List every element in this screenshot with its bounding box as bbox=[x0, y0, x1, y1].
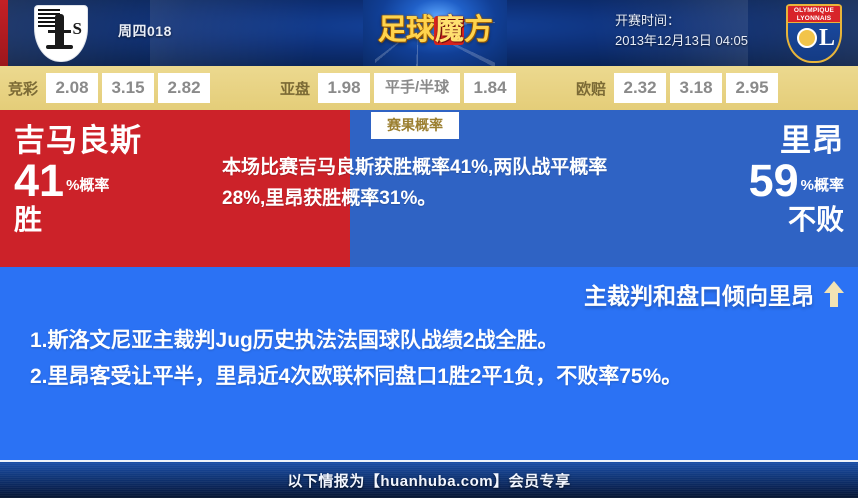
insight-headline-row: 主裁判和盘口倾向里昂 bbox=[584, 277, 844, 311]
home-probability-suffix: %概率 bbox=[66, 174, 109, 195]
crest-banner-line2: LYONNAIS bbox=[788, 15, 840, 23]
probability-section: 吉马良斯 41%概率 胜 赛果概率 本场比赛吉马良斯获胜概率41%,两队战平概率… bbox=[0, 110, 858, 267]
odds-label-euro: 欧赔 bbox=[576, 78, 606, 99]
insight-points: 1.斯洛文尼亚主裁判Jug历史执法法国球队战绩2战全胜。 2.里昂客受让平半，里… bbox=[30, 323, 832, 395]
kickoff-value: 2013年12月13日 04:05 bbox=[615, 31, 748, 51]
match-number: 周四018 bbox=[118, 21, 172, 41]
odds-group-euro: 欧赔 2.32 3.18 2.95 bbox=[568, 73, 782, 103]
member-footer-text: 以下情报为【huanhuba.com】会员专享 bbox=[287, 470, 570, 491]
home-team-name: 吉马良斯 bbox=[14, 124, 142, 158]
away-team-crest-icon: OLYMPIQUE LYONNAIS L bbox=[786, 4, 842, 63]
site-logo[interactable]: 足球魔方 bbox=[363, 0, 507, 66]
odds-cell-asian-away[interactable]: 1.84 bbox=[464, 73, 516, 103]
crest-monogram: L bbox=[788, 25, 842, 51]
odds-cell-euro-away[interactable]: 2.95 bbox=[726, 73, 778, 103]
away-probability-value: 59 bbox=[749, 158, 799, 204]
crest-letter-l: L bbox=[819, 25, 835, 51]
away-probability-block: 里昂 59%概率 不败 bbox=[749, 124, 844, 236]
logo-text-before: 足球 bbox=[378, 14, 434, 46]
odds-group-jingcai: 竞彩 2.08 3.15 2.82 bbox=[0, 73, 214, 103]
odds-cell-jingcai-home[interactable]: 2.08 bbox=[46, 73, 98, 103]
odds-cell-euro-draw[interactable]: 3.18 bbox=[670, 73, 722, 103]
probability-description: 本场比赛吉马良斯获胜概率41%,两队战平概率28%,里昂获胜概率31%。 bbox=[222, 152, 622, 214]
odds-group-asian: 亚盘 1.98 平手/半球 1.84 bbox=[272, 73, 520, 103]
match-preview-card: S 周四018 足球魔方 开赛时间： 2013年12月13日 04:05 OLY… bbox=[0, 0, 858, 498]
insight-headline: 主裁判和盘口倾向里昂 bbox=[584, 277, 814, 311]
crest-lion-roundel bbox=[797, 28, 817, 48]
crest-letter: S bbox=[73, 20, 82, 37]
away-probability-suffix: %概率 bbox=[801, 174, 844, 195]
logo-text: 足球魔方 bbox=[363, 16, 507, 45]
arrow-up-icon bbox=[824, 281, 844, 307]
kickoff-block: 开赛时间： 2013年12月13日 04:05 bbox=[615, 11, 748, 51]
logo-text-after: 方 bbox=[464, 14, 492, 46]
odds-cell-jingcai-draw[interactable]: 3.15 bbox=[102, 73, 154, 103]
odds-cell-asian-handicap[interactable]: 平手/半球 bbox=[374, 73, 460, 103]
home-probability-result: 胜 bbox=[14, 204, 142, 236]
away-probability-value-row: 59%概率 bbox=[749, 158, 844, 204]
probability-tab: 赛果概率 bbox=[371, 112, 459, 139]
crest-banner: OLYMPIQUE LYONNAIS bbox=[788, 6, 840, 23]
insight-point-2: 2.里昂客受让平半，里昂近4次欧联杯同盘口1胜2平1负，不败率75%。 bbox=[30, 359, 832, 395]
insight-point-1: 1.斯洛文尼亚主裁判Jug历史执法法国球队战绩2战全胜。 bbox=[30, 323, 832, 359]
crest-figure bbox=[55, 14, 64, 48]
home-probability-value: 41 bbox=[14, 158, 64, 204]
odds-label-jingcai: 竞彩 bbox=[8, 78, 38, 99]
odds-cell-euro-home[interactable]: 2.32 bbox=[614, 73, 666, 103]
odds-cell-asian-home[interactable]: 1.98 bbox=[318, 73, 370, 103]
away-probability-result: 不败 bbox=[749, 204, 844, 236]
away-team-name: 里昂 bbox=[749, 124, 844, 158]
insight-section: 主裁判和盘口倾向里昂 1.斯洛文尼亚主裁判Jug历史执法法国球队战绩2战全胜。 … bbox=[0, 267, 858, 498]
odds-label-asian: 亚盘 bbox=[280, 78, 310, 99]
home-team-crest-icon: S bbox=[34, 5, 88, 62]
home-probability-block: 吉马良斯 41%概率 胜 bbox=[14, 124, 142, 236]
logo-text-highlight: 魔 bbox=[434, 16, 464, 45]
crest-banner-line1: OLYMPIQUE bbox=[788, 7, 840, 15]
header-sheen-left bbox=[150, 0, 390, 66]
odds-bar: 竞彩 2.08 3.15 2.82 亚盘 1.98 平手/半球 1.84 欧赔 … bbox=[0, 66, 858, 110]
match-header: S 周四018 足球魔方 开赛时间： 2013年12月13日 04:05 OLY… bbox=[0, 0, 858, 66]
kickoff-label: 开赛时间： bbox=[615, 11, 748, 31]
odds-cell-jingcai-away[interactable]: 2.82 bbox=[158, 73, 210, 103]
member-footer: 以下情报为【huanhuba.com】会员专享 bbox=[0, 460, 858, 498]
home-probability-value-row: 41%概率 bbox=[14, 158, 142, 204]
